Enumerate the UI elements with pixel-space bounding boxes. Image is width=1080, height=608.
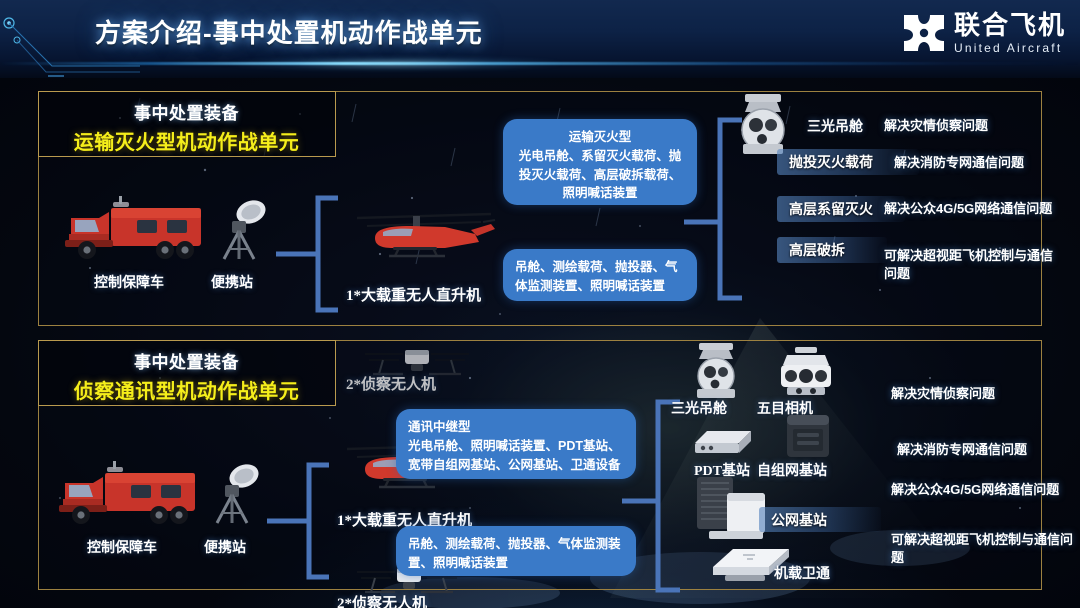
- label-equipment-tethered-extinguish: 高层系留灭火: [789, 199, 873, 219]
- payload-card-transport-firefighting: 运输灭火型 光电吊舱、系留灭火载荷、抛投灭火载荷、高层破拆载荷、照明喊话装置: [503, 119, 697, 205]
- panel-title-line2: 运输灭火型机动作战单元: [39, 126, 335, 155]
- label-equipment-gimbal-top: 三光吊舱: [807, 116, 863, 136]
- label-equipment-public-network: 公网基站: [771, 510, 827, 530]
- header-glow-hotspot: [230, 57, 560, 70]
- label-aircraft-helicopter-top: 1*大载重无人直升机: [346, 284, 481, 305]
- chip-public-network-base-station: 公网基站: [759, 507, 881, 532]
- five-lens-camera-icon: [777, 347, 835, 401]
- label-portable-station-top: 便携站: [211, 272, 253, 292]
- panel-title-line1: 事中处置装备: [39, 99, 335, 124]
- slide-header: 方案介绍-事中处置机动作战单元 联合飞机 United Aircraft: [0, 0, 1080, 78]
- portable-station-icon: [214, 197, 280, 265]
- payload-card-title: 通讯中继型: [408, 418, 624, 437]
- slide-root: 方案介绍-事中处置机动作战单元 联合飞机 United Aircraft: [0, 0, 1080, 608]
- label-portable-station-bottom: 便携站: [204, 537, 246, 557]
- bracket-ground-to-aircraft-top: [276, 192, 346, 317]
- payload-card-communication-relay: 通讯中继型 光电吊舱、照明喊话装置、PDT基站、宽带自组网基站、公网基站、卫通设…: [396, 409, 636, 479]
- portable-station-icon: [207, 461, 273, 529]
- label-command-truck-bottom: 控制保障车: [87, 537, 157, 557]
- panel-transport-firefighting-unit: 事中处置装备 运输灭火型机动作战单元 控制保障车: [38, 91, 1042, 326]
- bracket-payload-to-equipment-bottom: [622, 396, 682, 596]
- mesh-base-station-icon: [777, 409, 839, 463]
- panel-title-box: 事中处置装备 运输灭火型机动作战单元: [38, 91, 336, 157]
- bracket-ground-to-aircraft-bottom: [267, 459, 337, 584]
- brand-logo: 联合飞机 United Aircraft: [902, 12, 1066, 54]
- label-equipment-gimbal-bottom: 三光吊舱: [671, 398, 727, 418]
- united-aircraft-logo-icon: [902, 13, 946, 53]
- payload-card-recon-bottom: 吊舱、测绘载荷、抛投器、气体监测装置、照明喊话装置: [396, 526, 636, 576]
- benefit-text-1-top: 解决灾情侦察问题: [884, 117, 1064, 135]
- command-truck-icon: [53, 459, 203, 531]
- panel-title-line2: 侦察通讯型机动作战单元: [39, 375, 335, 404]
- three-light-gimbal-icon: [685, 343, 747, 401]
- benefit-text-3-top: 解决公众4G/5G网络通信问题: [884, 200, 1054, 218]
- pdt-base-station-icon: [689, 419, 761, 459]
- label-aircraft-drone-bottom: 2*侦察无人机: [337, 592, 427, 608]
- benefit-text-2-top: 解决消防专网通信问题: [894, 154, 1080, 172]
- benefit-text-1-bottom: 解决灾情侦察问题: [891, 385, 1080, 403]
- benefit-text-4-top: 可解决超视距飞机控制与通信问题: [884, 247, 1056, 282]
- label-equipment-highrise-breaching: 高层破拆: [789, 240, 845, 260]
- payload-card-body: 光电吊舱、系留灭火载荷、抛投灭火载荷、高层破拆载荷、照明喊话装置: [515, 147, 685, 203]
- panel-title-line1: 事中处置装备: [39, 348, 335, 373]
- heavy-lift-unmanned-helicopter-icon: [349, 202, 499, 264]
- label-command-truck-top: 控制保障车: [94, 272, 164, 292]
- benefit-text-3-bottom: 解决公众4G/5G网络通信问题: [891, 481, 1080, 499]
- benefit-text-4-bottom: 可解决超视距飞机控制与通信问题: [891, 531, 1080, 566]
- slide-body: 事中处置装备 运输灭火型机动作战单元 控制保障车: [0, 78, 1080, 608]
- panel-recon-communication-unit: 事中处置装备 侦察通讯型机动作战单元 控制保障车: [38, 340, 1042, 590]
- panel-title-box: 事中处置装备 侦察通讯型机动作战单元: [38, 340, 336, 406]
- logo-text-en: United Aircraft: [954, 42, 1066, 54]
- logo-text-cn: 联合飞机: [954, 12, 1066, 38]
- label-equipment-airborne-satcom: 机载卫通: [774, 563, 830, 583]
- chip-highrise-breaching: 高层破拆: [777, 237, 887, 263]
- payload-card-body: 吊舱、测绘载荷、抛投器、气体监测装置、照明喊话装置: [515, 258, 685, 296]
- payload-card-body: 吊舱、测绘载荷、抛投器、气体监测装置、照明喊话装置: [408, 535, 624, 573]
- page-title: 方案介绍-事中处置机动作战单元: [95, 13, 483, 50]
- payload-card-title: 运输灭火型: [515, 128, 685, 147]
- command-truck-icon: [59, 194, 209, 266]
- benefit-text-2-bottom: 解决消防专网通信问题: [897, 441, 1080, 459]
- label-equipment-drop-payload: 抛投灭火载荷: [789, 152, 873, 172]
- payload-card-recon-top: 吊舱、测绘载荷、抛投器、气体监测装置、照明喊话装置: [503, 249, 697, 301]
- payload-card-body: 光电吊舱、照明喊话装置、PDT基站、宽带自组网基站、公网基站、卫通设备: [408, 437, 624, 475]
